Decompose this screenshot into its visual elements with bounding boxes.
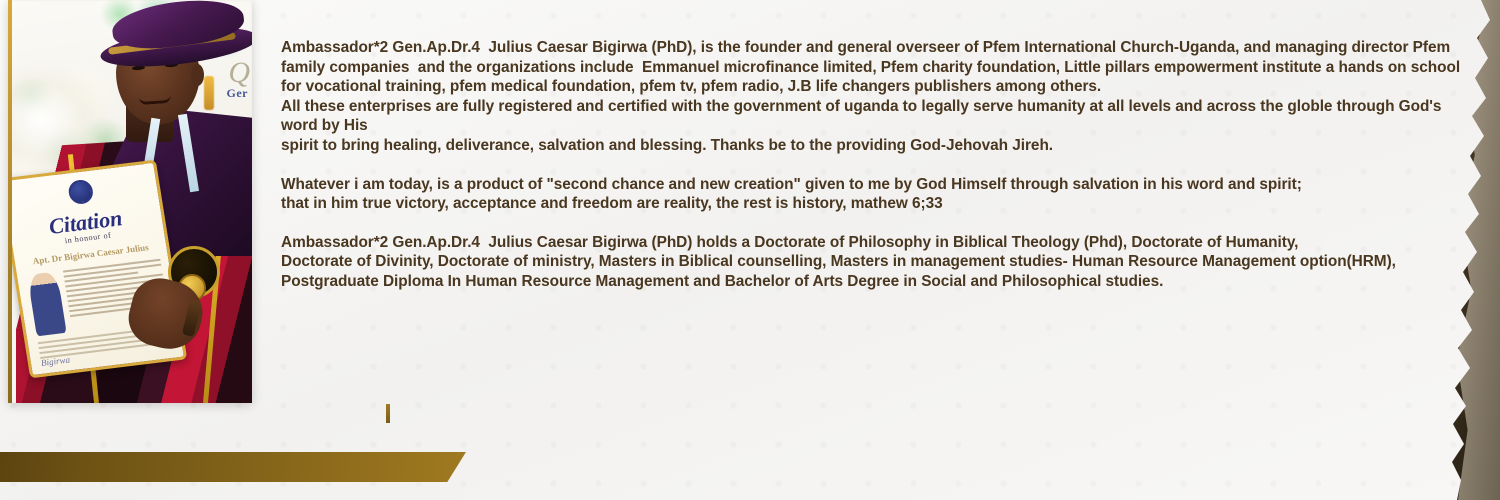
- paragraph-5: that in him true victory, acceptance and…: [281, 194, 1481, 214]
- paragraph-spacer-2: [281, 214, 1481, 233]
- paragraph-3: spirit to bring healing, deliverance, sa…: [281, 136, 1481, 156]
- paragraph-4: Whatever i am today, is a product of "se…: [281, 175, 1481, 195]
- ear: [191, 64, 204, 86]
- graduation-photo: Q Ger Citation: [8, 0, 252, 403]
- photo-content: Q Ger Citation: [8, 0, 252, 403]
- paragraph-1: Ambassador*2 Gen.Ap.Dr.4 Julius Caesar B…: [281, 38, 1481, 97]
- profile-banner: Q Ger Citation: [0, 0, 1500, 500]
- backdrop-banner-text: Ger: [227, 86, 249, 101]
- tassel-icon: [204, 76, 214, 110]
- certificate-signature: Bigirwa: [40, 355, 70, 368]
- backdrop-swirl-text: Q: [228, 56, 250, 90]
- gold-accent-bar: [0, 452, 466, 482]
- paragraph-spacer-1: [281, 156, 1481, 175]
- paragraph-6: Ambassador*2 Gen.Ap.Dr.4 Julius Caesar B…: [281, 233, 1481, 253]
- certificate-seal-icon: [67, 179, 95, 206]
- paragraph-2: All these enterprises are fully register…: [281, 97, 1481, 136]
- gold-tick-mark: [386, 404, 390, 423]
- certificate-portrait: [27, 271, 66, 336]
- paragraph-7: Doctorate of Divinity, Doctorate of mini…: [281, 252, 1481, 291]
- biography-text-block: Ambassador*2 Gen.Ap.Dr.4 Julius Caesar B…: [281, 38, 1481, 292]
